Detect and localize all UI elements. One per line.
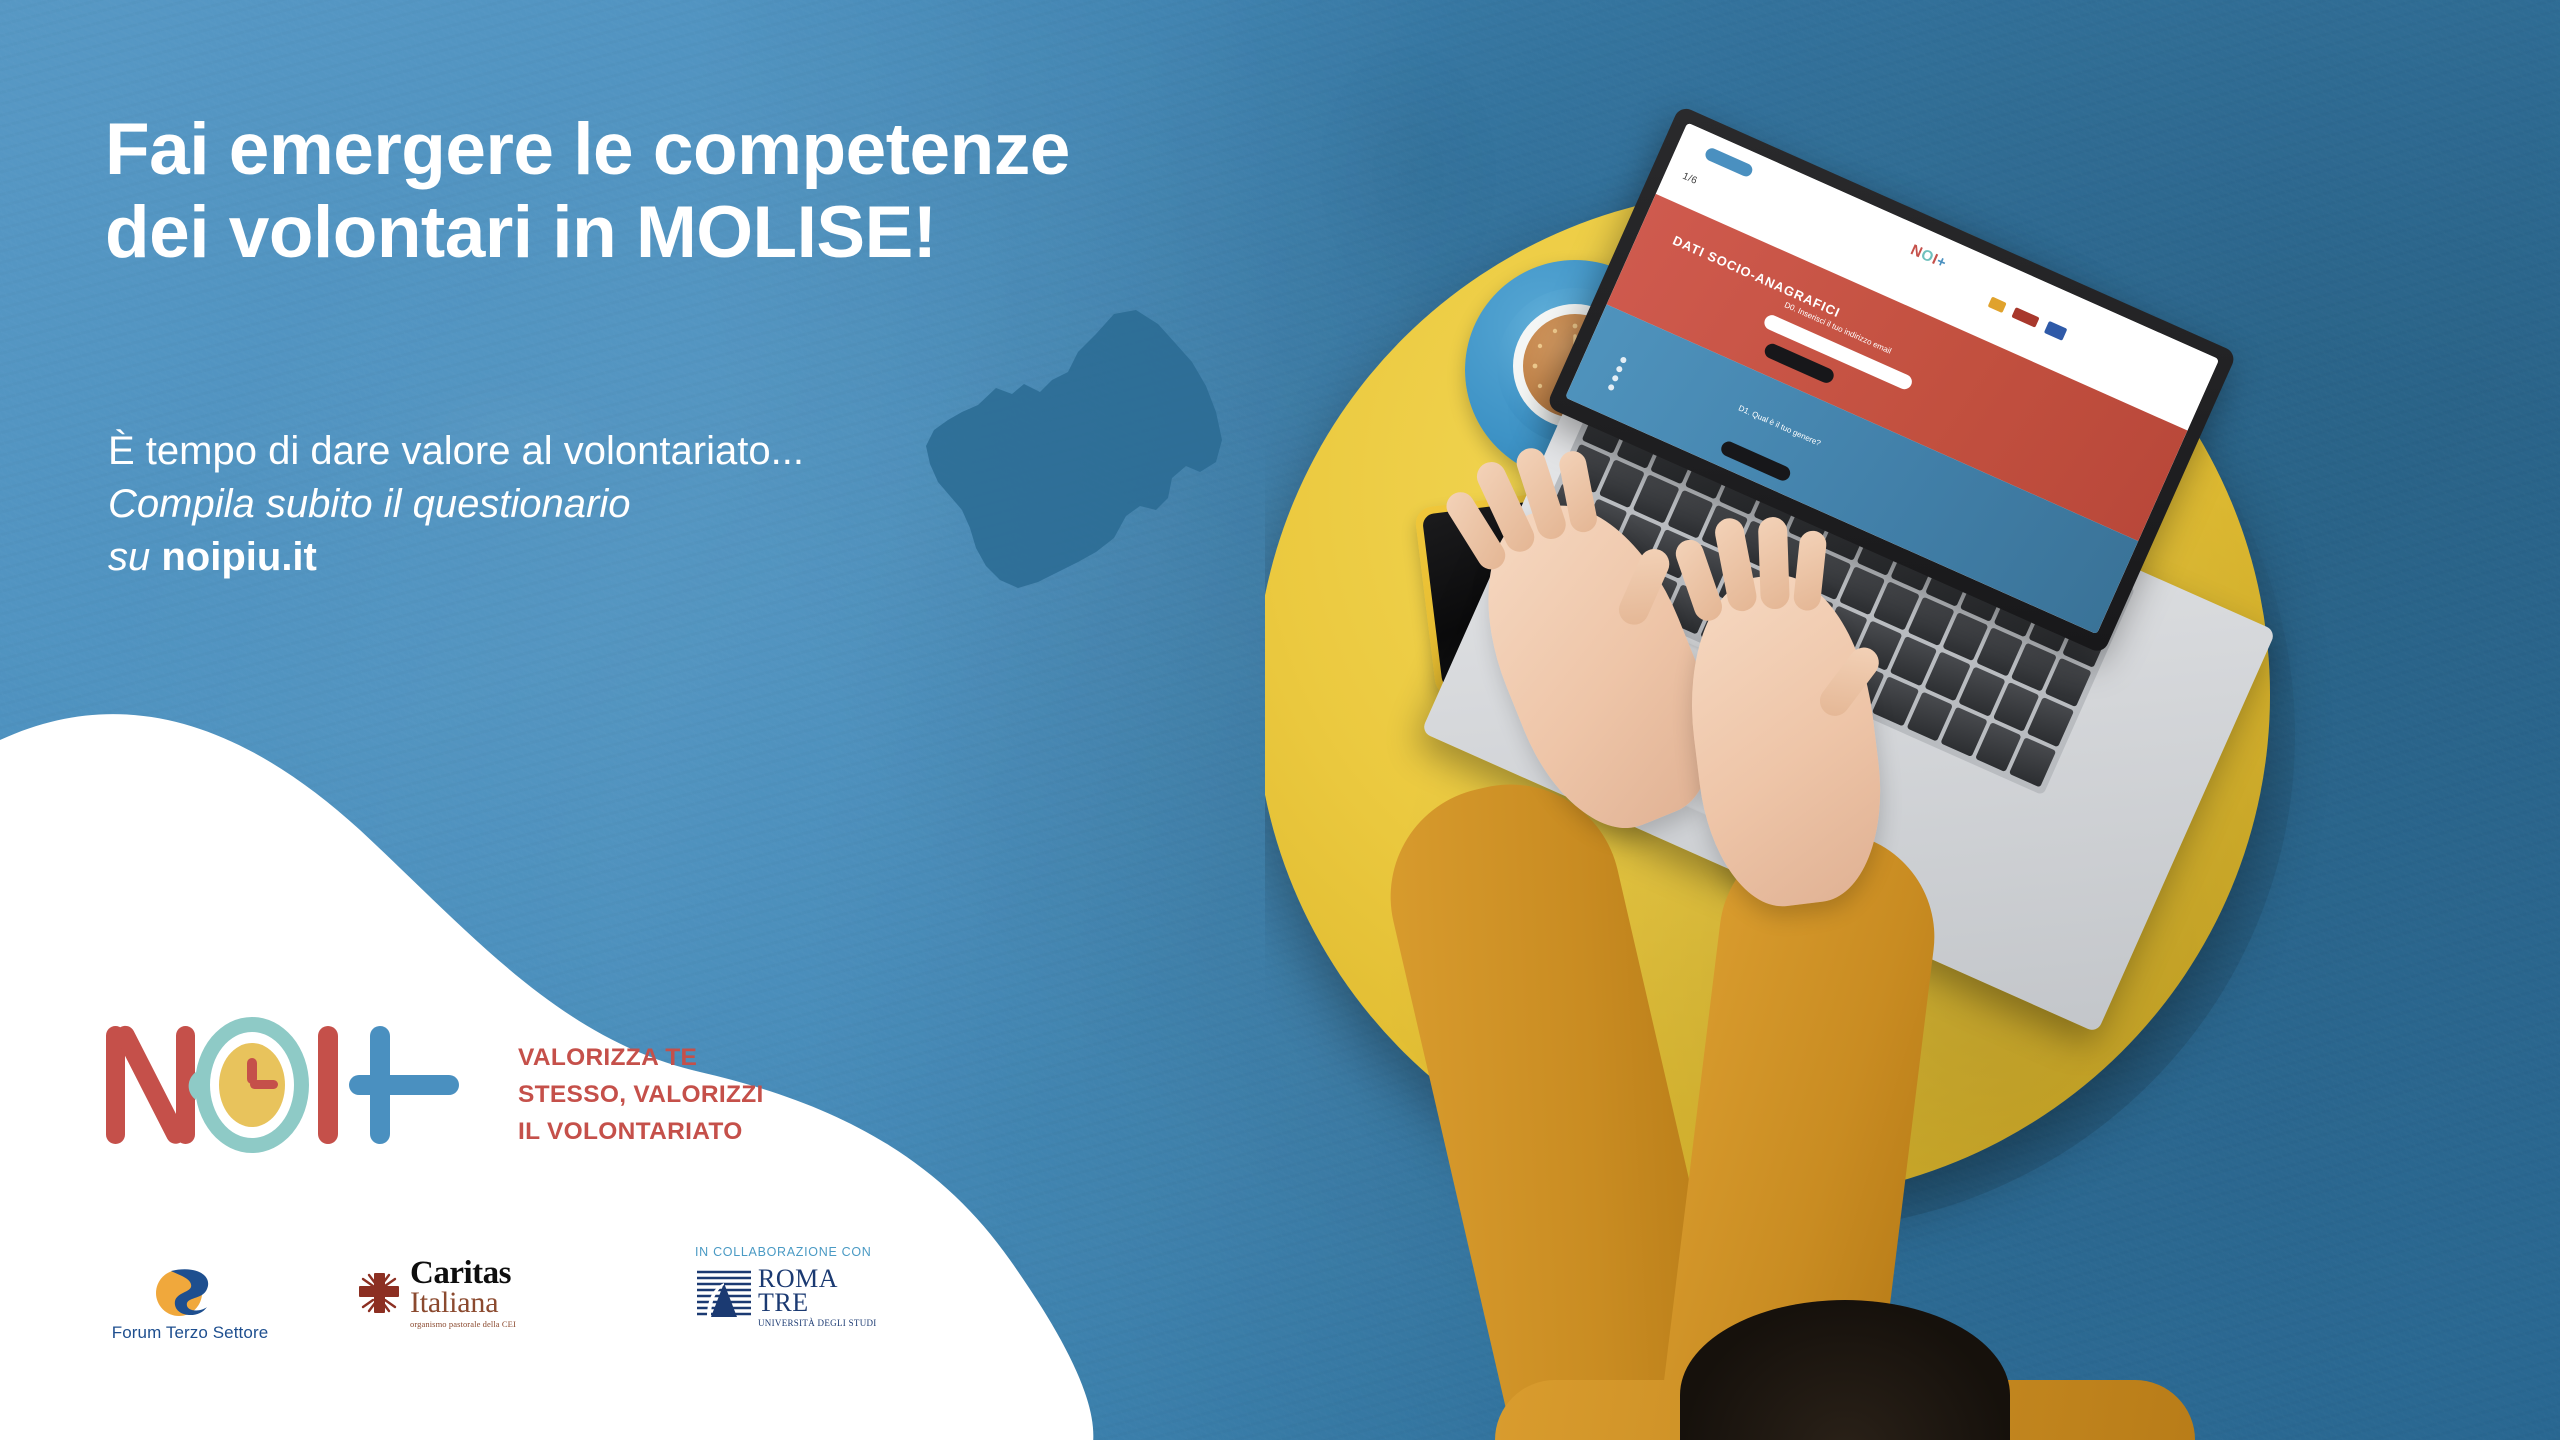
roma-tre-logo-block: IN COLLABORAZIONE CON ROMA TRE UNIVERSIT <box>695 1245 895 1327</box>
caritas-line-2: Italiana <box>410 1288 516 1318</box>
forum-swoosh-icon <box>95 1263 285 1319</box>
caritas-line-3: organismo pastorale della CEI <box>410 1320 516 1329</box>
roma-tre-wordmark: ROMA TRE UNIVERSITÀ DEGLI STUDI <box>758 1267 877 1327</box>
screen-noi-logo: NOI+ <box>1908 241 1949 272</box>
screen-question-blue: D1. Qual è il tuo genere? <box>1737 404 1822 448</box>
caritas-italiana-logo: Caritas Italiana organismo pastorale del… <box>355 1257 535 1329</box>
tagline-line-1: VALORIZZA TE <box>518 1040 764 1077</box>
logo-letter-n <box>106 1023 195 1147</box>
screen-caritas-logo-icon <box>2011 308 2039 329</box>
forum-terzo-settore-logo: Forum Terzo Settore <box>95 1263 285 1343</box>
noi-plus-logo <box>100 1010 500 1160</box>
logo-tagline: VALORIZZA TE STESSO, VALORIZZI IL VOLONT… <box>518 1040 764 1150</box>
roma-tre-arch-icon <box>695 1267 753 1325</box>
screen-forum-logo-icon <box>1988 297 2007 314</box>
website-link[interactable]: noipiu.it <box>161 535 317 579</box>
logo-letter-i <box>318 1026 338 1144</box>
tagline-line-3: IL VOLONTARIATO <box>518 1114 764 1151</box>
subtitle-block: È tempo di dare valore al volontariato..… <box>108 425 1208 583</box>
photo-scene: NOI+ 1/6 DATI SOCIO-ANAGRAFICI D0. Inser… <box>1265 0 2560 1440</box>
forum-label: Forum Terzo Settore <box>95 1323 285 1343</box>
screen-step-label: 1/6 <box>1681 171 1699 187</box>
collaboration-label: IN COLLABORAZIONE CON <box>695 1245 895 1259</box>
headline-line-1: Fai emergere le competenze <box>105 108 1365 191</box>
partner-logos: Forum Terzo Settore <box>95 1245 855 1365</box>
headline-line-2: dei volontari in MOLISE! <box>105 191 1365 274</box>
subtitle-su-prefix: su <box>108 535 161 579</box>
screen-romatre-logo-icon <box>2044 321 2068 341</box>
subtitle-line-2: Compila subito il questionario <box>108 478 1208 531</box>
subtitle-line-3: su noipiu.it <box>108 531 1208 584</box>
caritas-row: Caritas Italiana organismo pastorale del… <box>355 1257 535 1329</box>
screen-radio-options[interactable] <box>1607 356 1627 391</box>
screen-partner-logos <box>1987 296 2067 341</box>
promotional-banner: Fai emergere le competenze dei volontari… <box>0 0 2560 1440</box>
page-title: Fai emergere le competenze dei volontari… <box>105 108 1365 274</box>
subtitle-line-1: È tempo di dare valore al volontariato..… <box>108 425 1208 478</box>
clock-hand-minute <box>250 1080 278 1089</box>
caritas-cross-icon <box>355 1269 403 1317</box>
screen-step-badge <box>1704 146 1755 178</box>
screen-next-button-blue[interactable] <box>1719 439 1793 483</box>
roma-tre-row: ROMA TRE UNIVERSITÀ DEGLI STUDI <box>695 1267 895 1327</box>
logo-letter-o-coffee-cup <box>189 1017 309 1153</box>
roma-tre-line-3: UNIVERSITÀ DEGLI STUDI <box>758 1319 877 1327</box>
tagline-line-2: STESSO, VALORIZZI <box>518 1077 764 1114</box>
roma-tre-line-2: TRE <box>758 1291 877 1315</box>
finger <box>1758 517 1790 610</box>
forum-mark <box>95 1263 285 1319</box>
logo-letter-plus <box>349 1026 459 1144</box>
caritas-wordmark: Caritas Italiana organismo pastorale del… <box>410 1257 516 1329</box>
